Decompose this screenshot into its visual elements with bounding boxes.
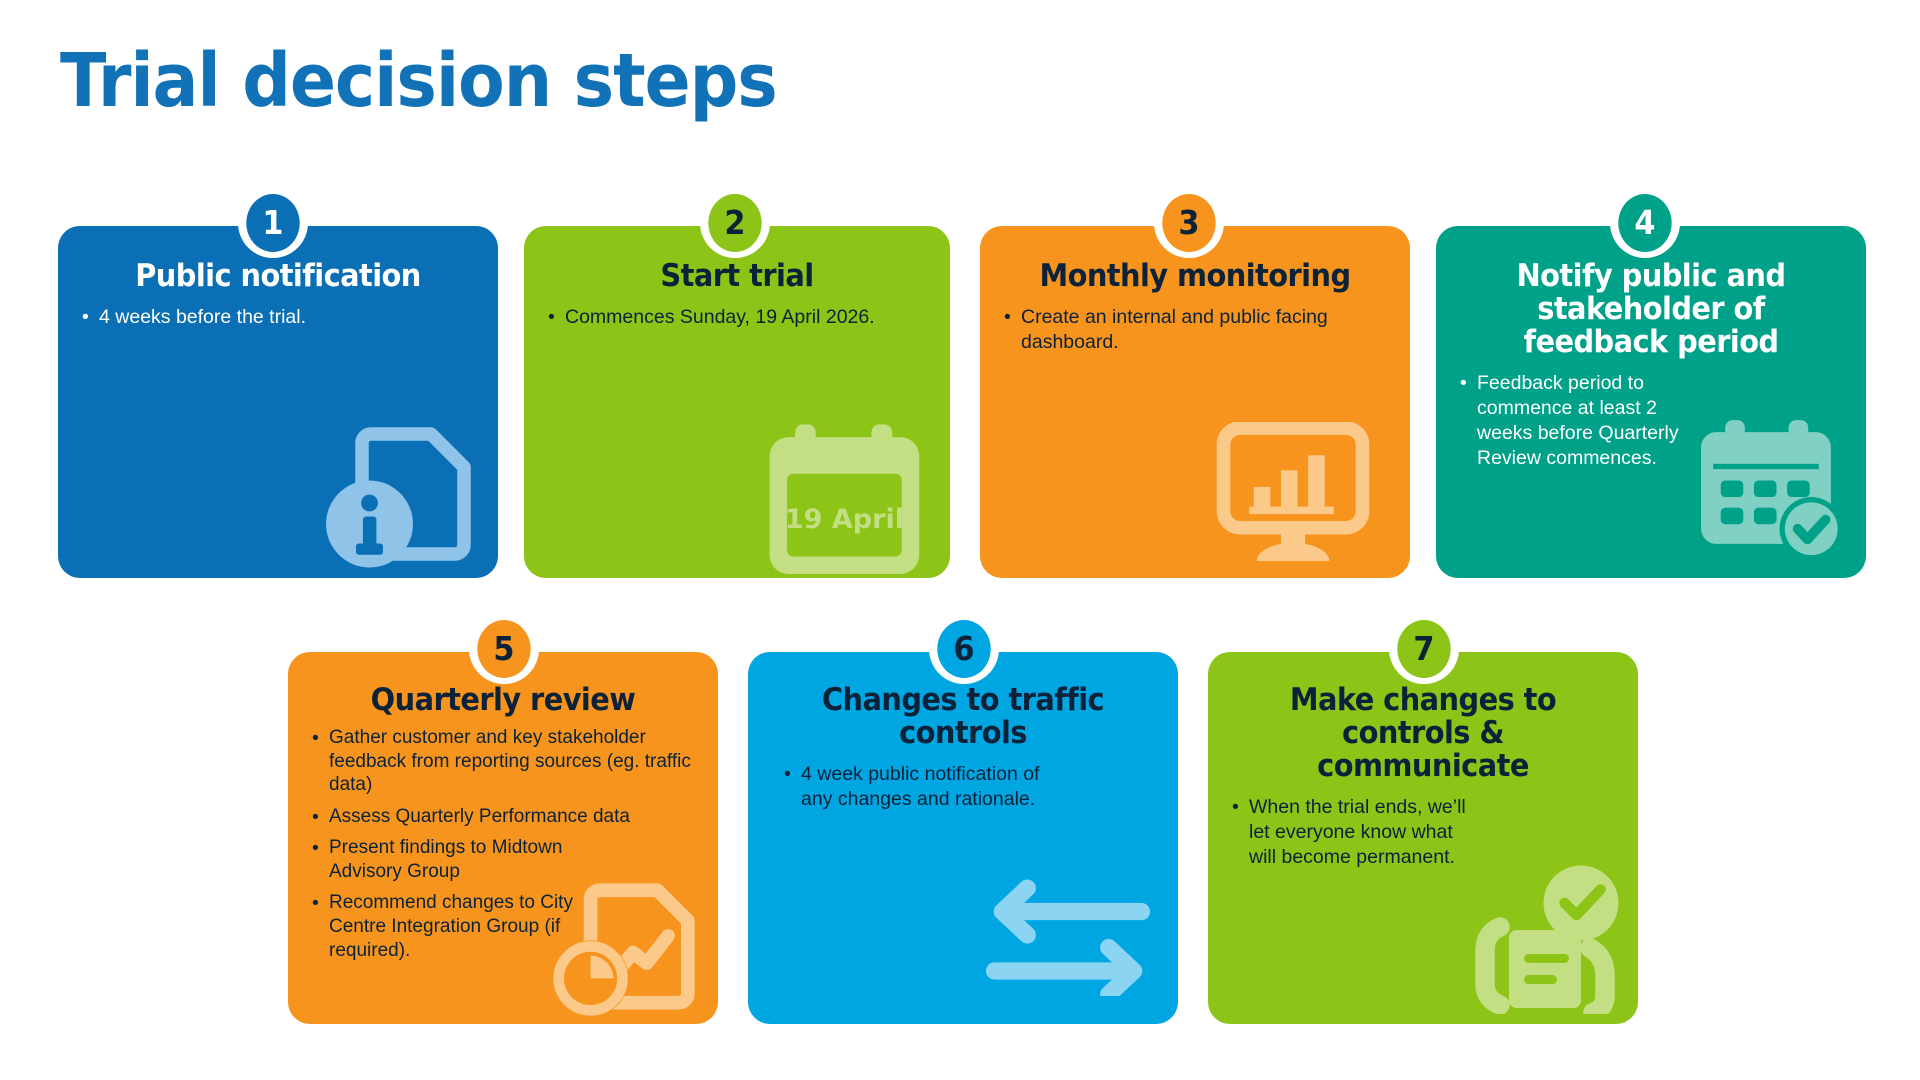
step-number: 3 — [1178, 206, 1199, 239]
bullet-text: Recommend changes to City Centre Integra… — [329, 892, 573, 960]
list-item: •Feedback period to commence at least 2 … — [1458, 371, 1683, 471]
bullet-glyph: • — [548, 305, 555, 330]
step-number: 2 — [724, 206, 745, 239]
bullet-text: 4 week public notification of any change… — [801, 763, 1039, 810]
card-title: Make changes to controls & communicate — [1244, 684, 1603, 783]
bullet-text: Create an internal and public facing das… — [1021, 306, 1328, 353]
bullet-glyph: • — [82, 305, 89, 330]
list-item: •Gather customer and key stakeholder fee… — [310, 726, 696, 797]
badge-disc: 5 — [477, 620, 530, 678]
step-number: 5 — [493, 632, 514, 665]
step-number: 1 — [262, 206, 283, 239]
card-title: Public notification — [94, 260, 462, 293]
bullet-glyph: • — [1232, 795, 1239, 820]
bullet-text: Present findings to Midtown Advisory Gro… — [329, 837, 562, 882]
card-title: Changes to traffic controls — [784, 684, 1143, 750]
bullet-glyph: • — [312, 836, 319, 861]
card-title: Notify public and stakeholder of feedbac… — [1472, 260, 1831, 359]
step-number: 4 — [1634, 206, 1655, 239]
list-item: •Commences Sunday, 19 April 2026. — [546, 305, 928, 330]
bullet-glyph: • — [1460, 371, 1467, 396]
list-item: •Recommend changes to City Centre Integr… — [310, 891, 594, 962]
bullet-text: Assess Quarterly Performance data — [329, 806, 630, 827]
step-number: 7 — [1413, 632, 1434, 665]
card-title: Start trial — [559, 260, 914, 293]
bullet-list: •Commences Sunday, 19 April 2026. — [546, 305, 928, 330]
badge-disc: 6 — [937, 620, 990, 678]
step-badge-7: 7 — [1389, 614, 1459, 684]
card-title: Monthly monitoring — [1016, 260, 1375, 293]
step-badge-5: 5 — [469, 614, 539, 684]
badge-disc: 7 — [1397, 620, 1450, 678]
step-badge-6: 6 — [929, 614, 999, 684]
step-card-2: 19 April Start trial •Commences Sunday, … — [524, 226, 950, 578]
badge-disc: 4 — [1618, 194, 1671, 252]
bullet-text: Gather customer and key stakeholder feed… — [329, 727, 691, 795]
badge-disc: 1 — [246, 194, 299, 252]
list-item: •Create an internal and public facing da… — [1002, 305, 1388, 355]
step-card-5: Quarterly review •Gather customer and ke… — [288, 652, 718, 1024]
step-card-1: Public notification •4 weeks before the … — [58, 226, 498, 578]
bullet-glyph: • — [312, 805, 319, 830]
infographic-page: Trial decision steps Public notification… — [0, 0, 1920, 1080]
bullet-list: •Feedback period to commence at least 2 … — [1458, 371, 1683, 471]
list-item: •Present findings to Midtown Advisory Gr… — [310, 836, 594, 883]
bullet-list: •4 weeks before the trial. — [80, 305, 476, 330]
list-item: •4 weeks before the trial. — [80, 305, 476, 330]
bullet-glyph: • — [312, 726, 319, 751]
step-badge-3: 3 — [1154, 188, 1224, 258]
bullet-list: •4 week public notification of any chang… — [782, 762, 1072, 812]
step-badge-1: 1 — [238, 188, 308, 258]
list-item: •4 week public notification of any chang… — [782, 762, 1072, 812]
bullet-text: When the trial ends, we’ll let everyone … — [1249, 796, 1466, 868]
badge-disc: 2 — [708, 194, 761, 252]
bullet-glyph: • — [784, 762, 791, 787]
bullet-list: •When the trial ends, we’ll let everyone… — [1230, 795, 1475, 870]
list-item: •When the trial ends, we’ll let everyone… — [1230, 795, 1475, 870]
step-card-6: Changes to traffic controls •4 week publ… — [748, 652, 1178, 1024]
bullet-glyph: • — [1004, 305, 1011, 330]
bullet-text: Feedback period to commence at least 2 w… — [1477, 372, 1679, 469]
step-badge-2: 2 — [700, 188, 770, 258]
bullet-text: Commences Sunday, 19 April 2026. — [565, 306, 875, 328]
bullet-glyph: • — [312, 891, 319, 916]
bullet-list: •Create an internal and public facing da… — [1002, 305, 1388, 355]
list-item: •Assess Quarterly Performance data — [310, 805, 696, 829]
step-badge-4: 4 — [1610, 188, 1680, 258]
step-card-4: Notify public and stakeholder of feedbac… — [1436, 226, 1866, 578]
bullet-list: •Gather customer and key stakeholder fee… — [310, 726, 696, 962]
step-card-7: Make changes to controls & communicate •… — [1208, 652, 1638, 1024]
card-title: Quarterly review — [324, 684, 683, 717]
bullet-text: 4 weeks before the trial. — [99, 306, 306, 328]
page-title: Trial decision steps — [60, 44, 777, 118]
step-card-3: Monthly monitoring •Create an internal a… — [980, 226, 1410, 578]
step-number: 6 — [953, 632, 974, 665]
badge-disc: 3 — [1162, 194, 1215, 252]
